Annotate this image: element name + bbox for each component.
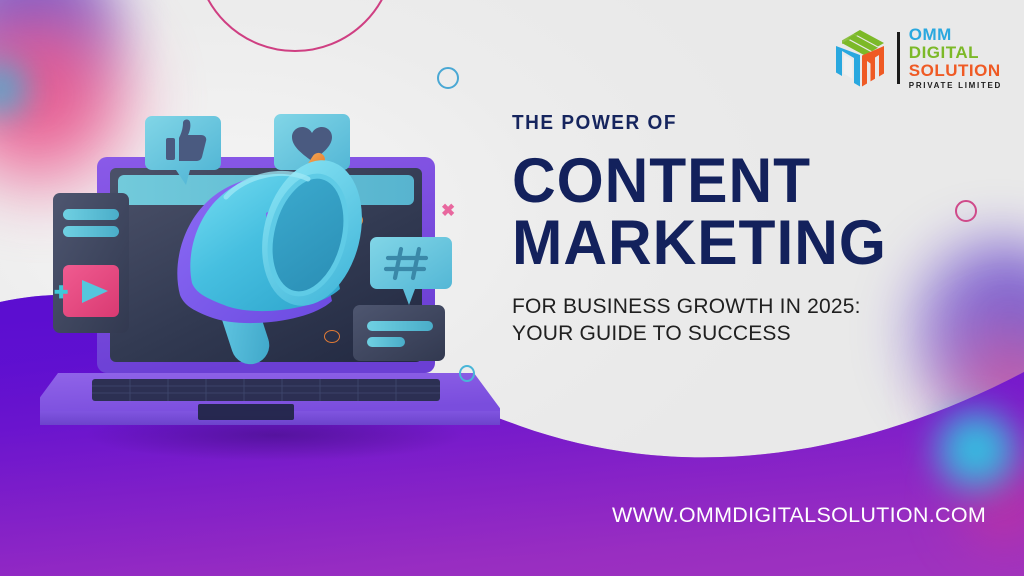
logo-line-digital: DIGITAL bbox=[909, 44, 1002, 61]
text-card bbox=[353, 305, 445, 361]
company-logo[interactable]: OMM DIGITAL SOLUTION PRIVATE LIMITED bbox=[832, 26, 1002, 90]
headline-subtitle: FOR BUSINESS GROWTH IN 2025: YOUR GUIDE … bbox=[512, 294, 932, 348]
website-url[interactable]: WWW.OMMDIGITALSOLUTION.COM bbox=[612, 503, 986, 528]
illustration-laptop-megaphone bbox=[40, 105, 500, 465]
omm-cube-logo-icon bbox=[832, 28, 888, 88]
video-card bbox=[53, 193, 129, 333]
headline-title-line-2: MARKETING bbox=[512, 213, 915, 273]
headline-subtitle-line-2: YOUR GUIDE TO SUCCESS bbox=[512, 321, 932, 348]
headline-block: THE POWER OF CONTENT MARKETING FOR BUSIN… bbox=[512, 112, 932, 348]
headline-kicker: THE POWER OF bbox=[512, 112, 911, 135]
headline-subtitle-line-1: FOR BUSINESS GROWTH IN 2025: bbox=[512, 294, 932, 321]
headline-title-line-1: CONTENT bbox=[512, 151, 915, 211]
logo-line-solution: SOLUTION bbox=[909, 62, 1002, 79]
logo-line-omm: OMM bbox=[909, 26, 1002, 43]
banner-root: ✖ ✚ bbox=[0, 0, 1024, 576]
logo-line-private-limited: PRIVATE LIMITED bbox=[909, 82, 1002, 90]
logo-divider bbox=[897, 32, 900, 84]
logo-wordmark: OMM DIGITAL SOLUTION PRIVATE LIMITED bbox=[909, 26, 1002, 90]
